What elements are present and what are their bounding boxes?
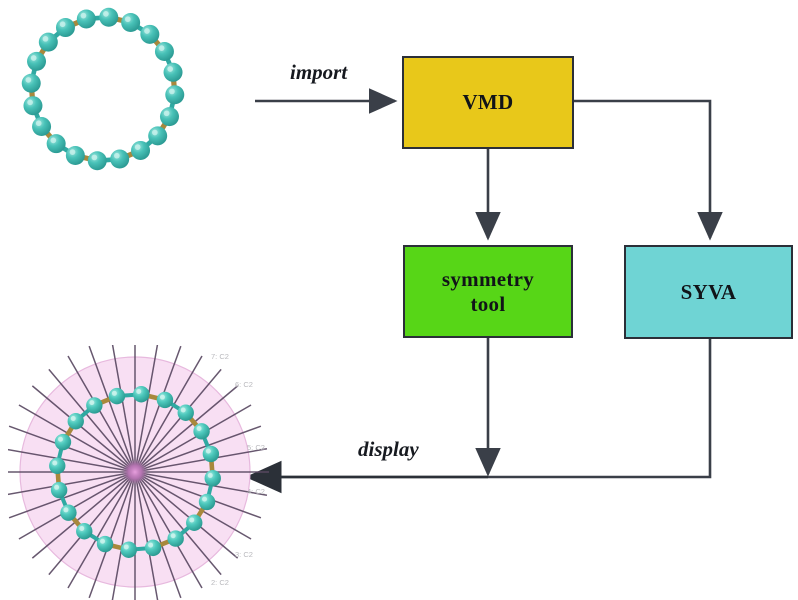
process-box-symmetry-tool[interactable]: symmetry tool: [403, 245, 573, 338]
vmd-to-syva-arrow: [574, 101, 710, 238]
symmetry-axis-label: 2: C2: [211, 578, 229, 587]
diagram-canvas: 0: C21: C22: C23: C24: C25: C26: C27: C2…: [0, 0, 798, 600]
cyclic-molecule-ring: [18, 4, 188, 174]
edge-label-display: display: [358, 437, 419, 462]
symmetry-tool-line2: tool: [470, 292, 505, 316]
edge-label-import: import: [290, 60, 347, 85]
syva-to-display-line: [488, 339, 710, 477]
symmetry-axes-plot: 0: C21: C22: C23: C24: C25: C26: C27: C2…: [8, 345, 288, 600]
symmetry-axis-label: 4: C2: [247, 487, 265, 496]
symmetry-tool-line1: symmetry: [442, 267, 534, 291]
symmetry-axis-label: 7: C2: [211, 352, 229, 361]
symmetry-axis-label: 5: C2: [247, 443, 265, 452]
process-box-syva[interactable]: SYVA: [624, 245, 793, 339]
process-box-syva-label: SYVA: [681, 280, 737, 305]
process-box-vmd-label: VMD: [462, 90, 513, 115]
symmetry-axis-label: 6: C2: [235, 380, 253, 389]
process-box-vmd[interactable]: VMD: [402, 56, 574, 149]
symmetry-axis-label: 3: C2: [235, 550, 253, 559]
process-box-symmetry-tool-label: symmetry tool: [442, 267, 534, 317]
